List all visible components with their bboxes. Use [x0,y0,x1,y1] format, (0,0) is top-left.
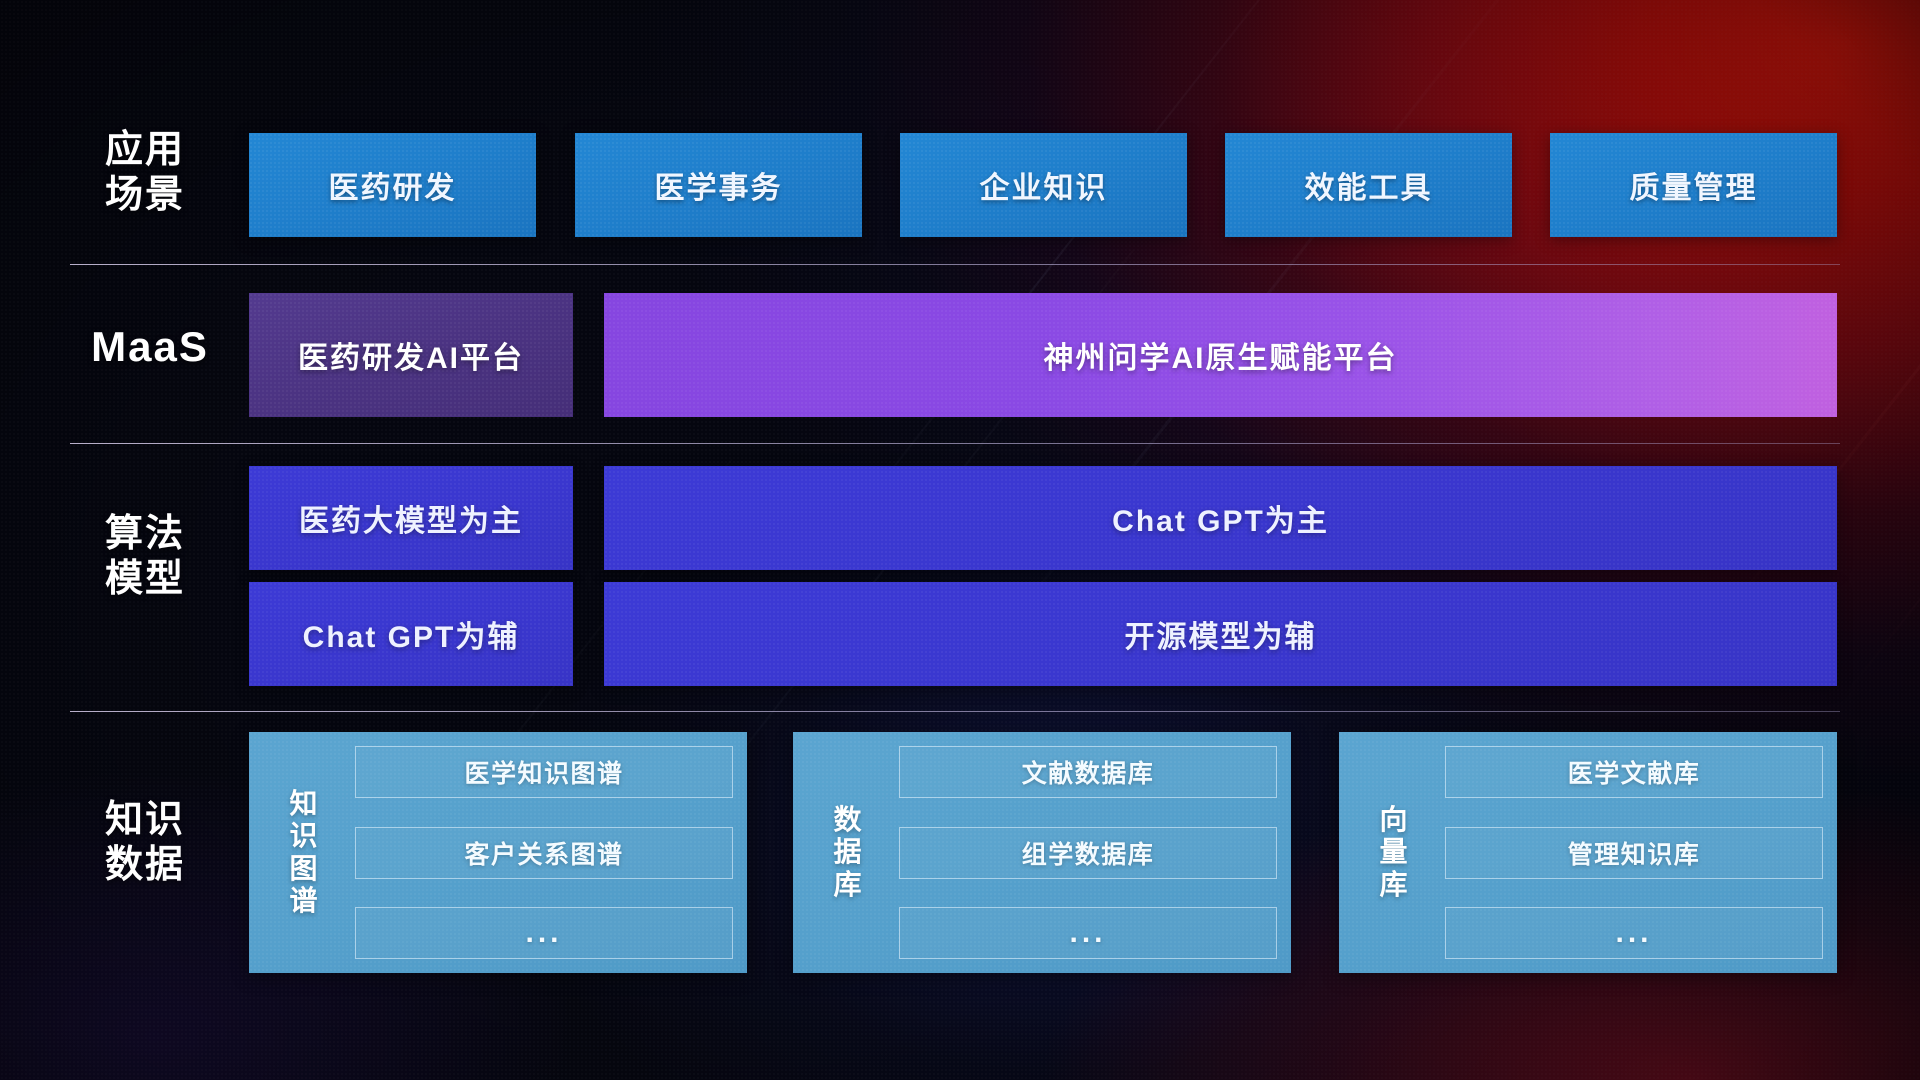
knowledge-group-title-char: 向 [1379,804,1408,836]
knowledge-item[interactable]: 文献数据库 [899,746,1277,798]
row-label-application-scenarios: 应用 场景 [60,128,230,218]
knowledge-item-label: 组学数据库 [1022,835,1155,871]
knowledge-group-title-char: 数 [833,804,862,836]
row-label-line-1: 知识 [60,798,230,843]
maas-box-label: 神州问学AI原生赋能平台 [1044,333,1398,377]
knowledge-item[interactable]: 客户关系图谱 [355,827,733,879]
divider-after-application-row [70,264,1840,265]
algo-box-label: Chat GPT为主 [1112,496,1329,540]
row-label-line-1: 算法 [60,512,230,557]
knowledge-group-title-char: 库 [833,869,862,901]
knowledge-item[interactable]: 医学知识图谱 [355,746,733,798]
app-box-efficiency-tools[interactable]: 效能工具 [1225,133,1512,237]
knowledge-group-title-char: 谱 [289,885,318,917]
knowledge-group-title-char: 识 [289,820,318,852]
knowledge-item-label: ... [1069,916,1106,950]
row-label-line-2: 模型 [60,557,230,602]
knowledge-group-title-char: 图 [289,853,318,885]
knowledge-item-more[interactable]: ... [899,907,1277,959]
knowledge-group-title-char: 据 [833,836,862,868]
app-box-label: 质量管理 [1630,163,1758,207]
algo-box-label: 医药大模型为主 [299,496,523,540]
algo-box-opensource-model-secondary[interactable]: 开源模型为辅 [604,582,1837,686]
row-label-line-2: 场景 [60,173,230,218]
divider-after-maas-row [70,443,1840,444]
knowledge-item[interactable]: 管理知识库 [1445,827,1823,879]
algo-box-pharma-large-model-primary[interactable]: 医药大模型为主 [249,466,573,570]
algo-box-chatgpt-primary[interactable]: Chat GPT为主 [604,466,1837,570]
maas-box-label: 医药研发AI平台 [298,333,524,377]
app-box-enterprise-knowledge[interactable]: 企业知识 [900,133,1187,237]
app-box-label: 医学事务 [655,163,783,207]
row-label-maas: MaaS [60,322,240,372]
app-box-label: 医药研发 [329,163,457,207]
knowledge-group-title-char: 知 [289,788,318,820]
knowledge-group-item-list: 医学文献库 管理知识库 ... [1445,746,1823,959]
knowledge-item-more[interactable]: ... [355,907,733,959]
app-box-medical-affairs[interactable]: 医学事务 [575,133,862,237]
architecture-diagram: 应用 场景 医药研发 医学事务 企业知识 效能工具 质量管理 MaaS 医药研发… [0,0,1920,1080]
knowledge-item-label: 医学知识图谱 [464,754,623,790]
app-box-quality-management[interactable]: 质量管理 [1550,133,1837,237]
knowledge-item-label: 医学文献库 [1568,754,1701,790]
knowledge-item-more[interactable]: ... [1445,907,1823,959]
knowledge-group-knowledge-graph[interactable]: 知 识 图 谱 医学知识图谱 客户关系图谱 ... [249,732,747,973]
knowledge-item[interactable]: 组学数据库 [899,827,1277,879]
row-label-line-2: 数据 [60,843,230,888]
algo-box-label: 开源模型为辅 [1125,612,1317,656]
knowledge-item-label: ... [1615,916,1652,950]
knowledge-item[interactable]: 医学文献库 [1445,746,1823,798]
app-box-label: 企业知识 [980,163,1108,207]
knowledge-group-title: 知 识 图 谱 [267,746,341,959]
knowledge-group-database[interactable]: 数 据 库 文献数据库 组学数据库 ... [793,732,1291,973]
app-box-label: 效能工具 [1305,163,1433,207]
knowledge-item-label: 客户关系图谱 [464,835,623,871]
knowledge-group-item-list: 文献数据库 组学数据库 ... [899,746,1277,959]
knowledge-group-item-list: 医学知识图谱 客户关系图谱 ... [355,746,733,959]
algo-box-label: Chat GPT为辅 [303,612,520,656]
row-label-line-1: 应用 [60,128,230,173]
knowledge-item-label: 管理知识库 [1568,835,1701,871]
app-box-medicine-rd[interactable]: 医药研发 [249,133,536,237]
algo-box-chatgpt-secondary[interactable]: Chat GPT为辅 [249,582,573,686]
knowledge-group-title: 向 量 库 [1357,746,1431,959]
knowledge-group-title-char: 库 [1379,869,1408,901]
divider-after-algorithm-row [70,711,1840,712]
knowledge-item-label: ... [525,916,562,950]
row-label-line-1: MaaS [60,322,240,372]
maas-box-shenzhou-wenxue-platform[interactable]: 神州问学AI原生赋能平台 [604,293,1837,417]
row-label-knowledge-data: 知识 数据 [60,798,230,888]
row-label-algorithm-model: 算法 模型 [60,512,230,602]
knowledge-item-label: 文献数据库 [1022,754,1155,790]
knowledge-group-title: 数 据 库 [811,746,885,959]
knowledge-group-title-char: 量 [1379,836,1408,868]
knowledge-group-vector-store[interactable]: 向 量 库 医学文献库 管理知识库 ... [1339,732,1837,973]
maas-box-pharma-ai-platform[interactable]: 医药研发AI平台 [249,293,573,417]
